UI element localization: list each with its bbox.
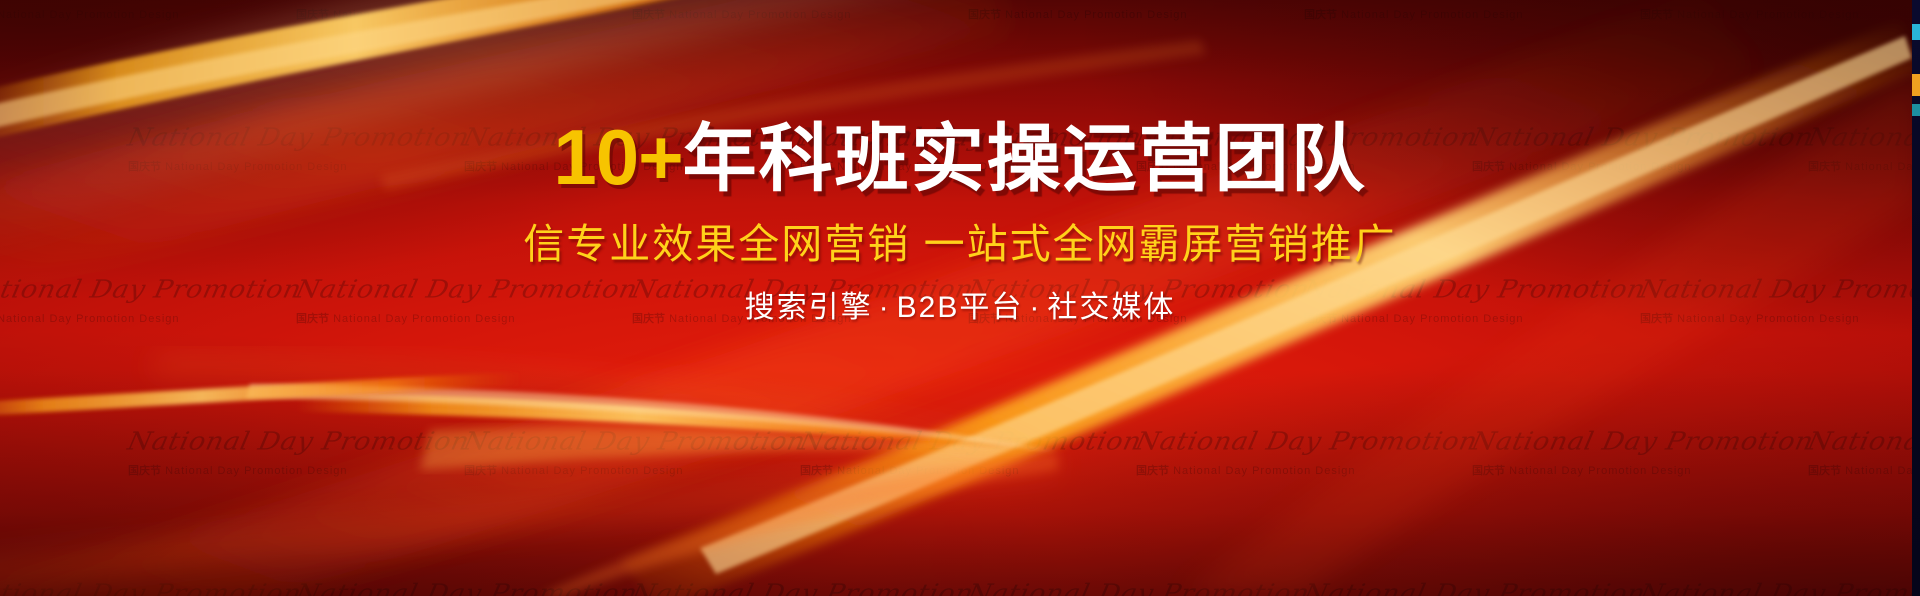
tagline-item-b2b-platform: B2B平台 bbox=[897, 291, 1024, 324]
tagline-item-social-media: 社交媒体 bbox=[1047, 291, 1175, 324]
right-edge-strip bbox=[1912, 0, 1920, 596]
promotional-banner: National Day Promotion 国庆节 National Day … bbox=[0, 0, 1920, 596]
headline-text: 年科班实操运营团队 bbox=[683, 117, 1367, 200]
tagline-separator-icon: · bbox=[1023, 291, 1047, 324]
headline: 10+年科班实操运营团队 bbox=[0, 118, 1920, 196]
headline-number: 10+ bbox=[553, 113, 682, 201]
subheadline: 信专业效果全网营销 一站式全网霸屏营销推广 bbox=[0, 224, 1920, 265]
edge-mark-teal bbox=[1912, 104, 1920, 116]
banner-text-content: 10+年科班实操运营团队 信专业效果全网营销 一站式全网霸屏营销推广 搜索引擎·… bbox=[0, 118, 1920, 323]
tagline-item-search-engine: 搜索引擎 bbox=[745, 291, 873, 324]
tagline-separator-icon: · bbox=[873, 291, 897, 324]
tagline: 搜索引擎·B2B平台·社交媒体 bbox=[0, 293, 1920, 323]
edge-mark-orange bbox=[1912, 74, 1920, 96]
edge-mark-cyan bbox=[1912, 24, 1920, 40]
